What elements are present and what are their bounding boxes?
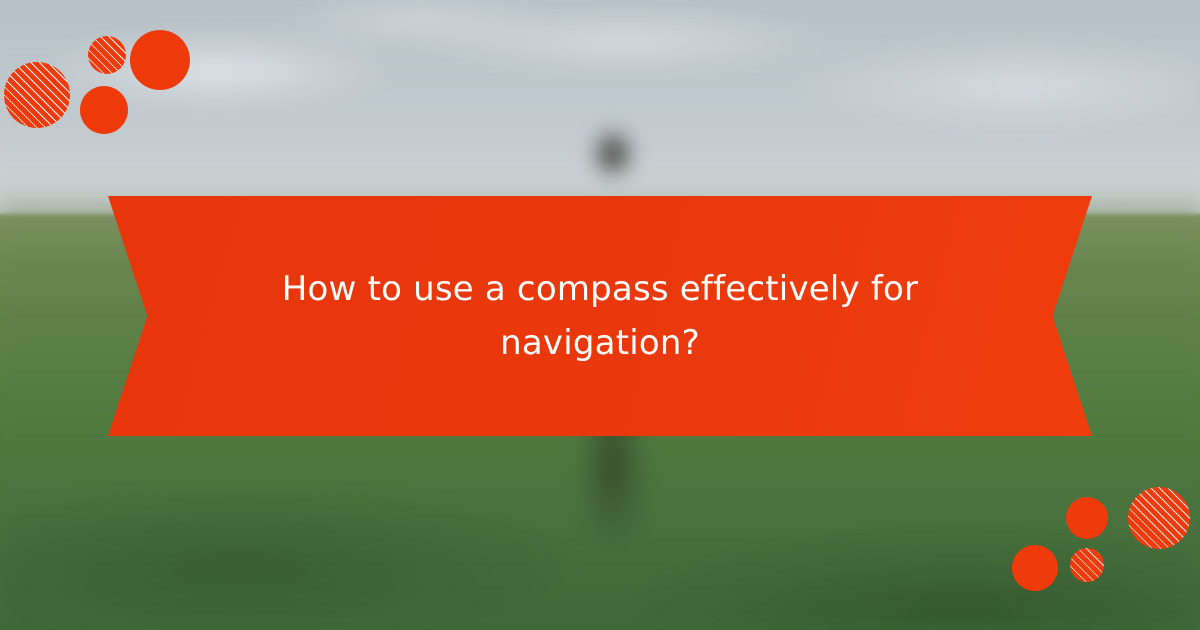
striped-circle-large-icon (4, 62, 70, 128)
solid-circle-medium-icon (1066, 497, 1108, 539)
social-card: How to use a compass effectively for nav… (0, 0, 1200, 630)
striped-circle-small-icon (1070, 548, 1104, 582)
striped-circle-large-icon (1128, 487, 1190, 549)
title-ribbon: How to use a compass effectively for nav… (108, 196, 1092, 436)
solid-circle-large-icon (130, 30, 190, 90)
solid-circle-large-icon (1012, 545, 1058, 591)
striped-circle-small-icon (88, 36, 126, 74)
page-title: How to use a compass effectively for nav… (240, 262, 960, 370)
solid-circle-medium-icon (80, 86, 128, 134)
